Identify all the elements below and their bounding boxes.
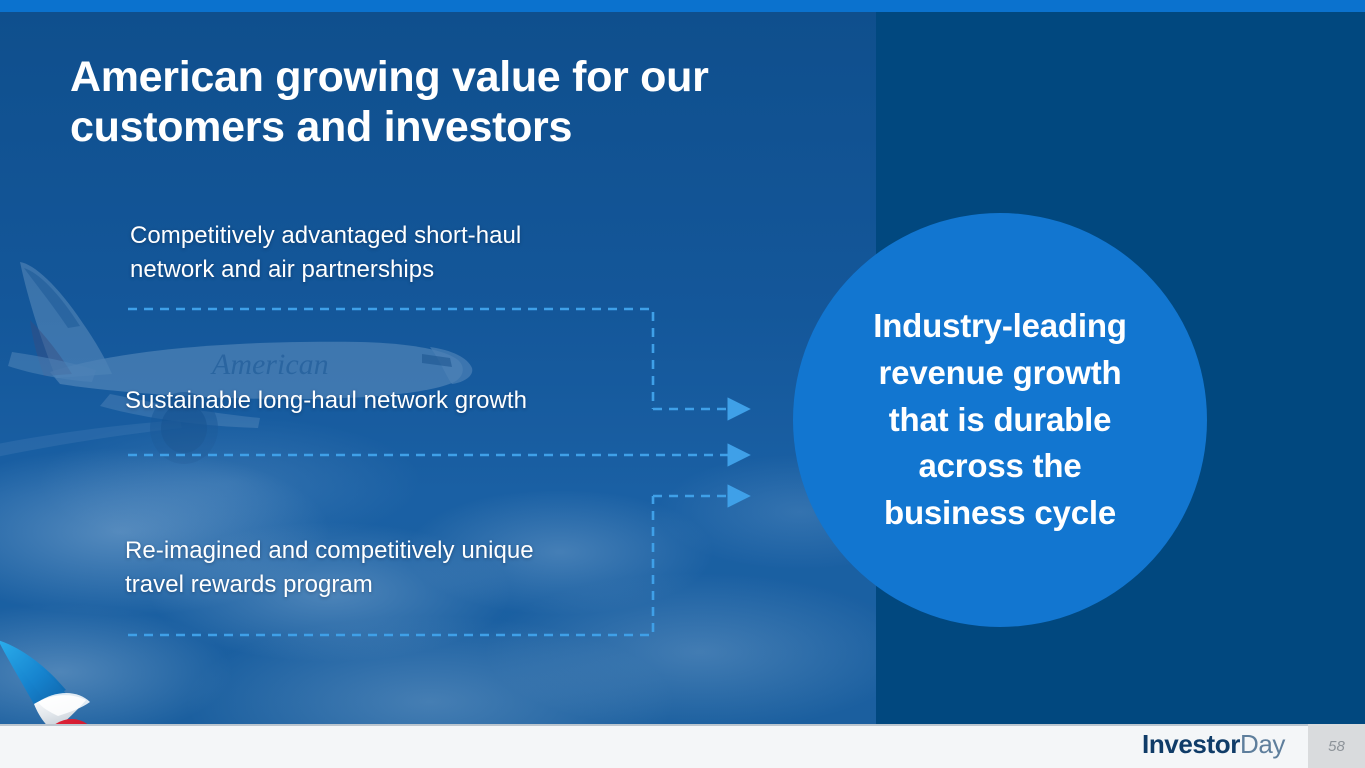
callout-line-1: Industry-leading: [835, 303, 1165, 350]
title-line-1: American growing value for our: [70, 52, 830, 102]
bullet-loyalty-line-2: travel rewards program: [125, 568, 685, 602]
page-number-box: 58: [1308, 724, 1365, 768]
page-number: 58: [1328, 738, 1345, 755]
american-airlines-tail-icon: [0, 624, 194, 724]
callout-line-4: across the: [835, 443, 1165, 490]
callout-line-5: business cycle: [835, 490, 1165, 537]
logo-day-text: Day: [1240, 729, 1285, 759]
callout-circle: Industry-leading revenue growth that is …: [793, 213, 1207, 627]
svg-text:American: American: [210, 348, 329, 381]
bullet-short-haul: Competitively advantaged short-haul netw…: [130, 219, 670, 287]
page-title: American growing value for our customers…: [70, 52, 830, 153]
bullet-long-haul-line-1: Sustainable long-haul network growth: [125, 384, 685, 418]
bullet-short-haul-line-2: network and air partnerships: [130, 253, 670, 287]
title-line-2: customers and investors: [70, 102, 830, 152]
bullet-long-haul: Sustainable long-haul network growth: [125, 384, 685, 418]
slide-canvas: American: [0, 0, 1365, 768]
investor-day-logo: InvestorDay: [1142, 729, 1285, 760]
bullet-loyalty: Re-imagined and competitively unique tra…: [125, 534, 685, 602]
callout-line-3: that is durable: [835, 397, 1165, 444]
bullet-loyalty-line-1: Re-imagined and competitively unique: [125, 534, 685, 568]
logo-investor-text: Investor: [1142, 729, 1240, 759]
footer-divider: [0, 724, 1365, 726]
top-accent-bar: [0, 0, 1365, 12]
callout-circle-text: Industry-leading revenue growth that is …: [835, 303, 1165, 537]
callout-line-2: revenue growth: [835, 350, 1165, 397]
bullet-short-haul-line-1: Competitively advantaged short-haul: [130, 219, 670, 253]
